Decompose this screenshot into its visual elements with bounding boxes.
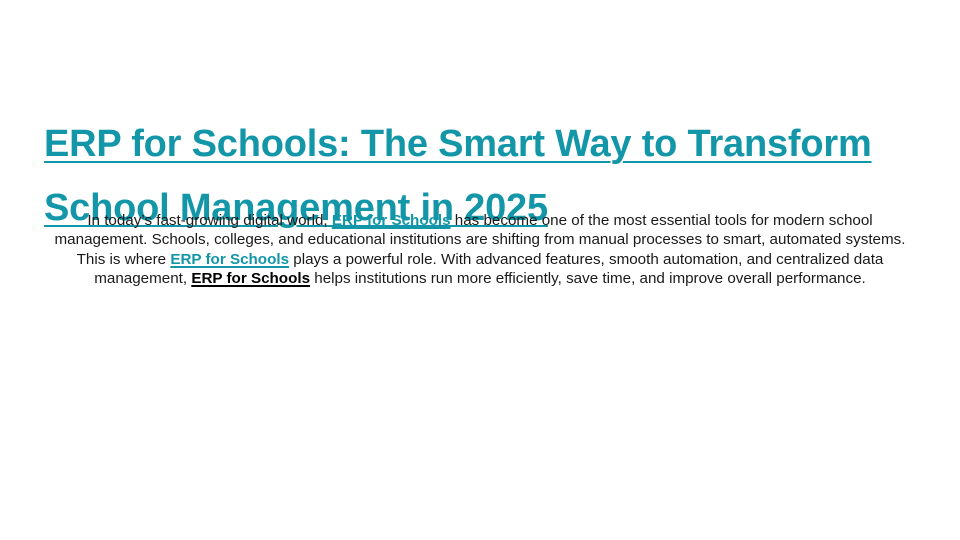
slide-canvas: ERP for Schools: The Smart Way to Transf… bbox=[0, 0, 960, 540]
erp-for-schools-link-1[interactable]: ERP for Schools bbox=[332, 212, 451, 229]
erp-for-schools-link-2[interactable]: ERP for Schools bbox=[170, 251, 289, 268]
body-text-segment-4: helps institutions run more efficiently,… bbox=[310, 270, 866, 287]
body-text-segment-1: In today’s fast-growing digital world, bbox=[87, 212, 332, 229]
erp-for-schools-strong-1: ERP for Schools bbox=[191, 270, 310, 287]
body-paragraph: In today’s fast-growing digital world, E… bbox=[52, 211, 908, 289]
slide-body-container: In today’s fast-growing digital world, E… bbox=[52, 211, 908, 289]
